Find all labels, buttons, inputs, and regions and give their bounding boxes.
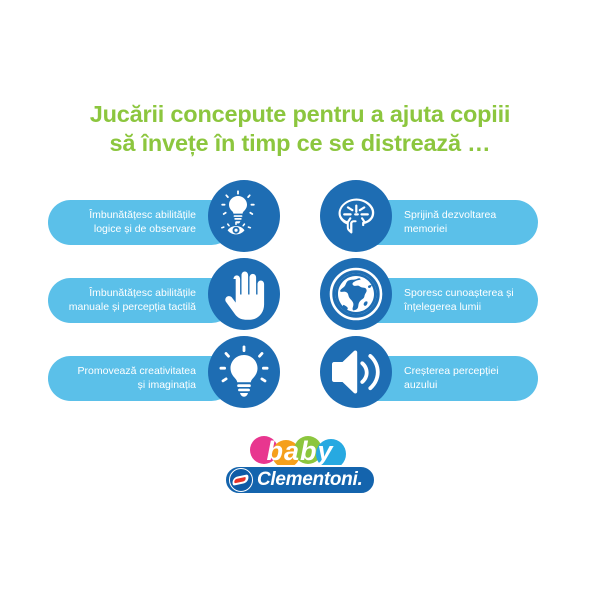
- feature-text-line-1: Sporesc cunoașterea și: [404, 287, 514, 301]
- clementoni-bar: Clementoni.: [224, 465, 376, 495]
- poster-root: Jucării concepute pentru a ajuta copiii …: [0, 0, 600, 600]
- globe-icon: [329, 267, 383, 321]
- brand-logo[interactable]: baby Clementoni.: [0, 436, 600, 498]
- baby-wordmark-text: baby: [250, 436, 350, 468]
- feature-text-line-2: memoriei: [404, 223, 496, 237]
- feature-icon-circle: [208, 258, 280, 330]
- feature-text-line-2: auzului: [404, 379, 499, 393]
- page-title: Jucării concepute pentru a ajuta copiii …: [0, 100, 600, 158]
- feature-text-line-1: Promovează creativitatea: [78, 365, 196, 379]
- clementoni-emblem-icon: [229, 468, 253, 492]
- feature-text-line-1: Creșterea percepției: [404, 365, 499, 379]
- lightbulb-eye-icon: [218, 190, 270, 242]
- feature-row: Promovează creativitatea și imaginația: [0, 336, 600, 414]
- feature-icon-circle: [320, 336, 392, 408]
- feature-text: Îmbunătățesc abilitățile logice și de ob…: [89, 209, 196, 236]
- feature-pill: Îmbunătățesc abilitățile logice și de ob…: [48, 200, 234, 245]
- feature-item-world-knowledge[interactable]: Sporesc cunoașterea și înțelegerea lumii: [320, 258, 552, 330]
- feature-item-creativity[interactable]: Promovează creativitatea și imaginația: [48, 336, 280, 408]
- feature-item-hearing[interactable]: Creșterea percepției auzului: [320, 336, 552, 408]
- feature-text-line-1: Sprijină dezvoltarea: [404, 209, 496, 223]
- brain-icon: [331, 191, 381, 241]
- brand-logo-inner: baby Clementoni.: [220, 436, 380, 498]
- feature-text: Creșterea percepției auzului: [404, 365, 499, 392]
- feature-text-line-1: Îmbunătățesc abilitățile: [69, 287, 196, 301]
- feature-text: Îmbunătățesc abilitățile manuale și perc…: [69, 287, 196, 314]
- feature-icon-circle: [320, 258, 392, 330]
- feature-row: Îmbunătățesc abilitățile logice și de ob…: [0, 180, 600, 258]
- feature-icon-circle: [208, 180, 280, 252]
- feature-item-memory[interactable]: Sprijină dezvoltarea memoriei: [320, 180, 552, 252]
- hand-icon: [220, 268, 268, 320]
- feature-text-line-2: înțelegerea lumii: [404, 301, 514, 315]
- clementoni-wordmark-text: Clementoni.: [257, 469, 362, 491]
- feature-row: Îmbunătățesc abilitățile manuale și perc…: [0, 258, 600, 336]
- lightbulb-icon: [219, 345, 269, 399]
- speaker-icon: [330, 348, 382, 396]
- feature-grid: Îmbunătățesc abilitățile logice și de ob…: [0, 180, 600, 414]
- feature-text-line-2: și imaginația: [78, 379, 196, 393]
- feature-text: Sporesc cunoașterea și înțelegerea lumii: [404, 287, 514, 314]
- feature-icon-circle: [320, 180, 392, 252]
- feature-pill: Promovează creativitatea și imaginația: [48, 356, 234, 401]
- title-line-1: Jucării concepute pentru a ajuta copiii: [0, 100, 600, 129]
- feature-text-line-1: Îmbunătățesc abilitățile: [89, 209, 196, 223]
- feature-item-logic-observation[interactable]: Îmbunătățesc abilitățile logice și de ob…: [48, 180, 280, 252]
- clementoni-swoosh-icon: [231, 474, 249, 485]
- feature-pill: Îmbunătățesc abilitățile manuale și perc…: [48, 278, 234, 323]
- feature-text: Promovează creativitatea și imaginația: [78, 365, 196, 392]
- title-line-2: să învețe în timp ce se distrează …: [0, 129, 600, 158]
- baby-wordmark: baby: [250, 436, 350, 468]
- feature-text-line-2: logice și de observare: [89, 223, 196, 237]
- feature-text: Sprijină dezvoltarea memoriei: [404, 209, 496, 236]
- feature-text-line-2: manuale și percepția tactilă: [69, 301, 196, 315]
- feature-item-manual-tactile[interactable]: Îmbunătățesc abilitățile manuale și perc…: [48, 258, 280, 330]
- feature-icon-circle: [208, 336, 280, 408]
